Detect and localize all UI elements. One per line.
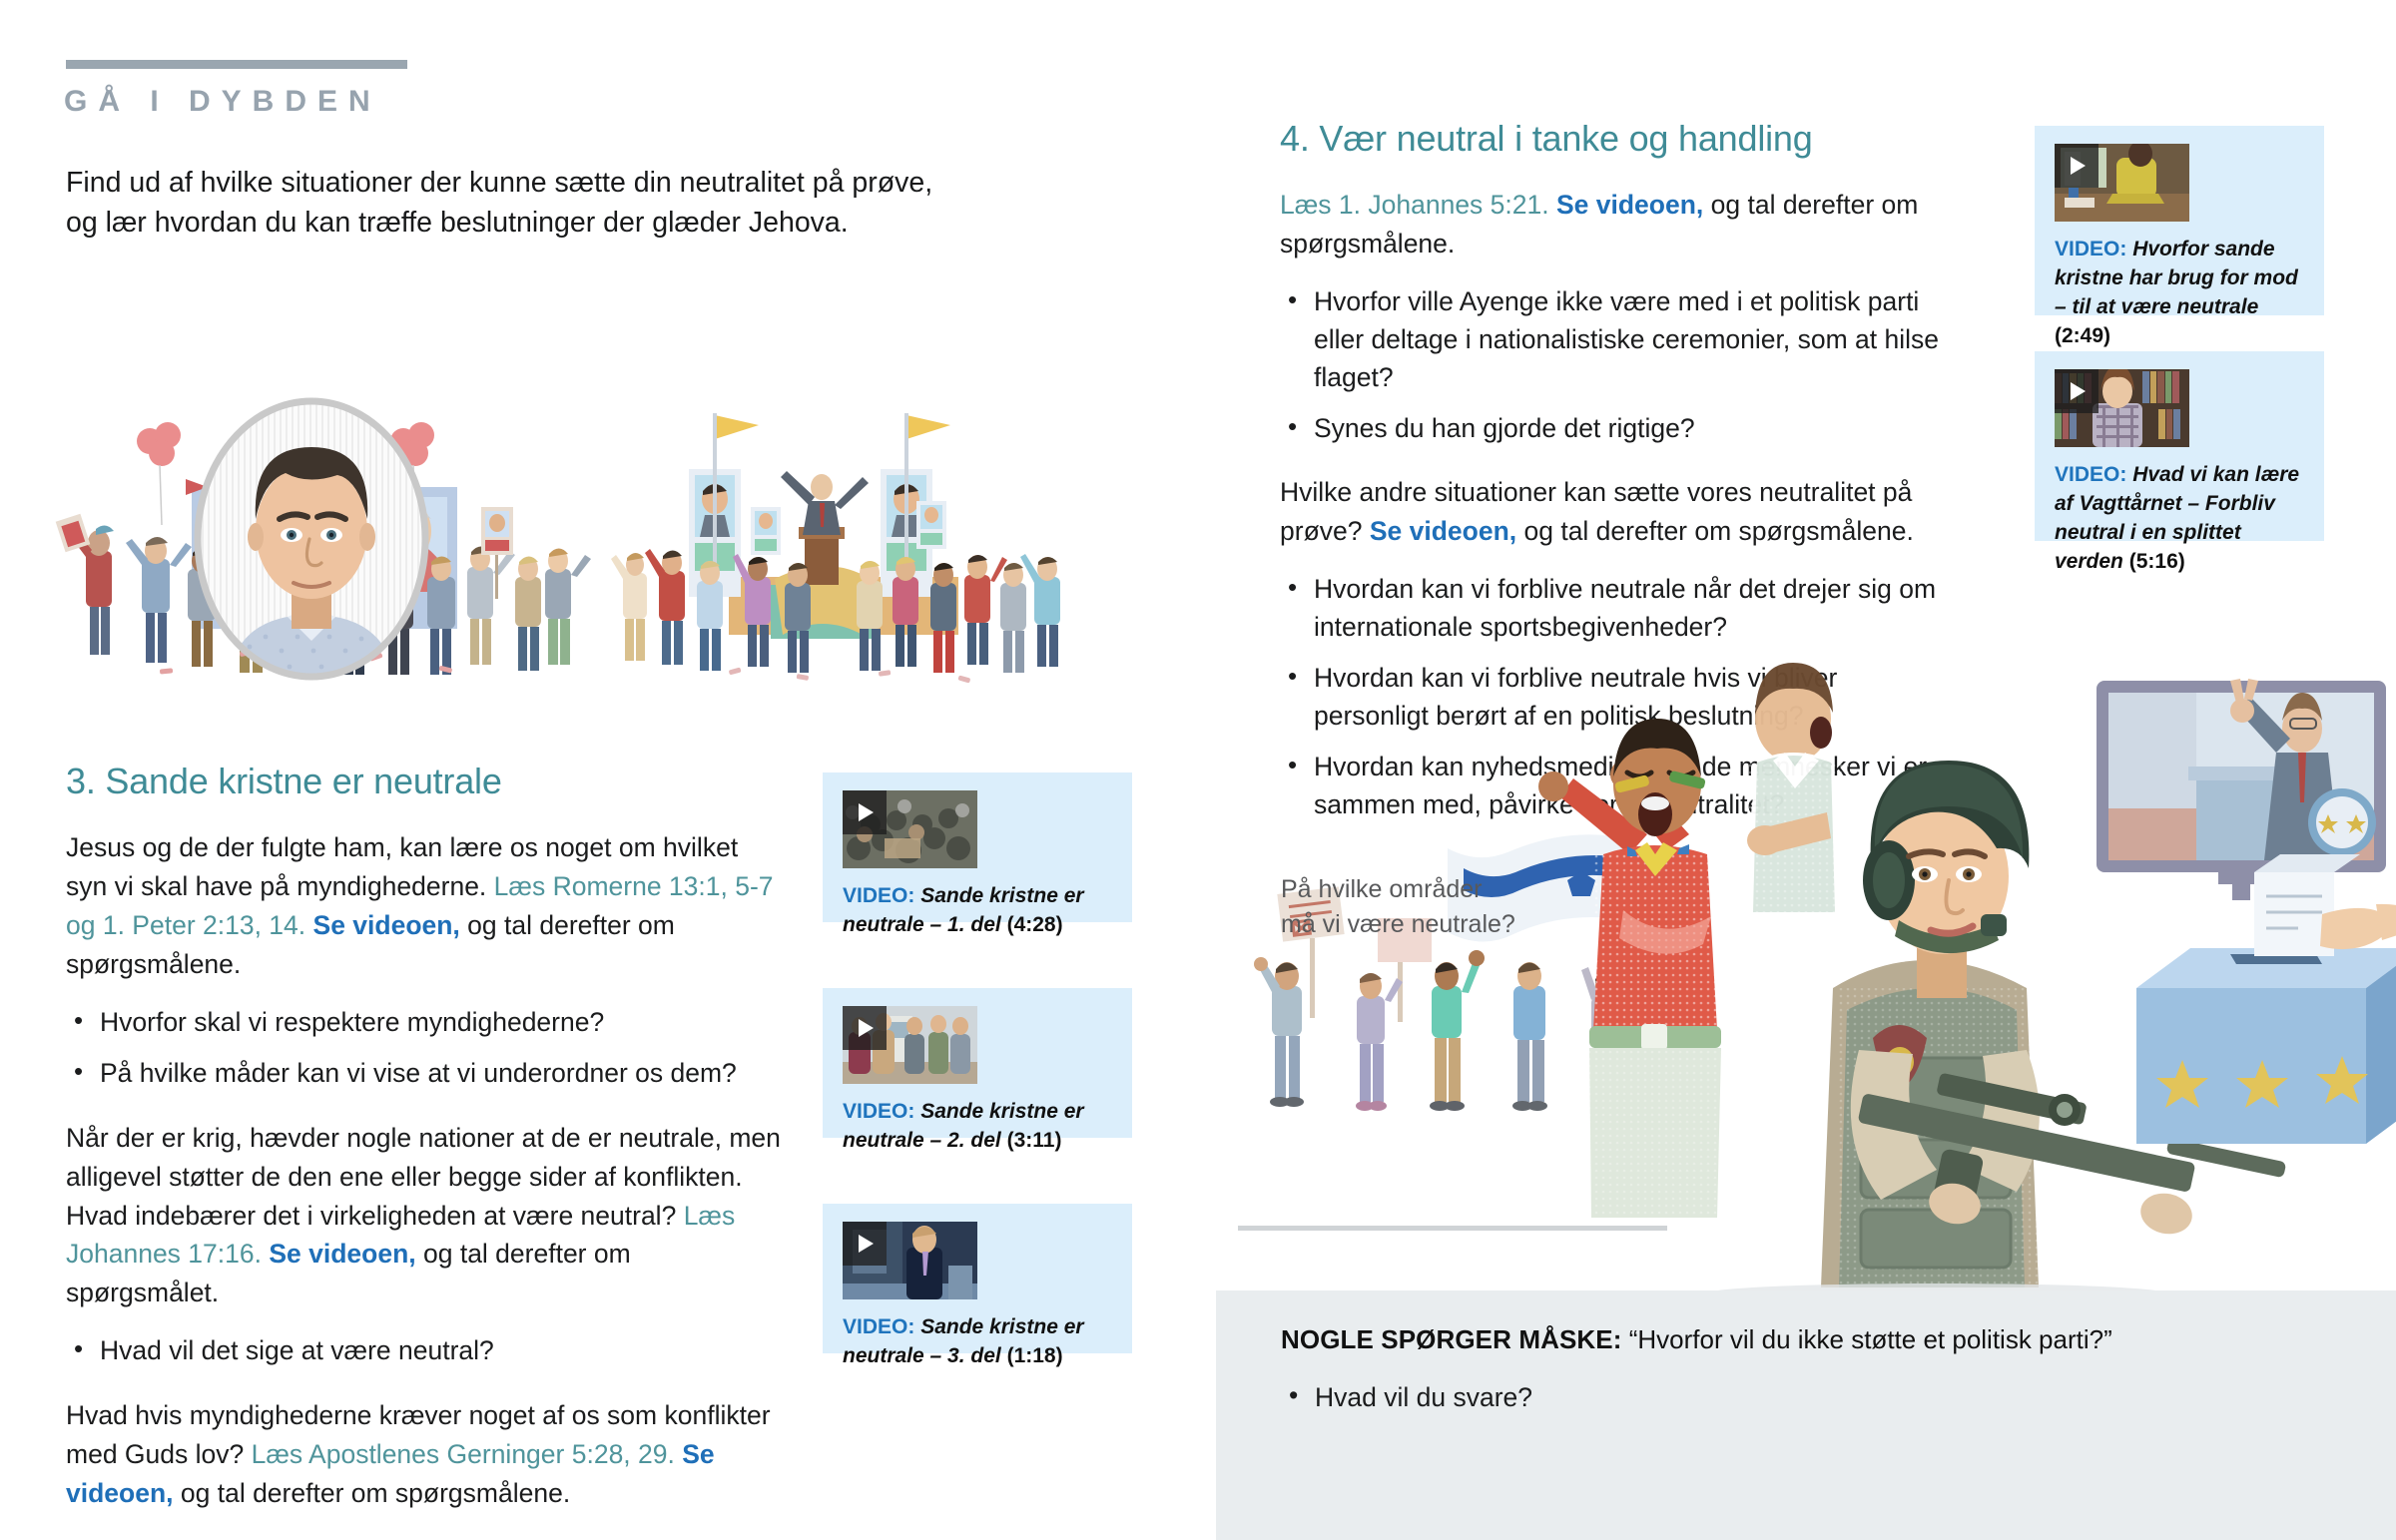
- list-item: Hvorfor skal vi respektere myndighederne…: [66, 1004, 785, 1042]
- tv-broadcast-group: [2096, 679, 2386, 900]
- list-item: På hvilke måder kan vi vise at vi undero…: [66, 1055, 785, 1093]
- neutrality-illustration: [1238, 659, 2396, 1297]
- intro-line-2: og lær hvordan du kan træffe beslutninge…: [66, 203, 1074, 243]
- play-icon[interactable]: [843, 1222, 887, 1266]
- video-thumbnail-3[interactable]: [843, 1222, 977, 1299]
- video-label: VIDEO:: [843, 884, 914, 907]
- s4-p1-scripture[interactable]: Læs 1. Johannes 5:21.: [1280, 190, 1556, 220]
- section-3-paragraph-1: Jesus og de der fulgte ham, kan lære os …: [66, 828, 785, 984]
- video-caption-2: VIDEO: Sande kristne er neutrale – 2. de…: [843, 1098, 1112, 1156]
- list-item: Hvordan kan vi forblive neutrale når det…: [1280, 571, 1939, 647]
- list-item: Synes du han gjorde det rigtige?: [1280, 410, 1939, 448]
- video-caption-5: VIDEO: Hvad vi kan lære af Vagttårnet – …: [2055, 461, 2304, 577]
- video-caption-3: VIDEO: Sande kristne er neutrale – 3. de…: [843, 1313, 1112, 1371]
- video-thumbnail-2[interactable]: [843, 1006, 977, 1084]
- page-root: GÅ I DYBDEN Find ud af hvilke situatione…: [0, 0, 2396, 1540]
- video-label: VIDEO:: [843, 1100, 914, 1123]
- intro-line-1: Find ud af hvilke situationer der kunne …: [66, 163, 1074, 203]
- s3-p2-video-link[interactable]: Se videoen,: [269, 1239, 415, 1269]
- video-card-5[interactable]: VIDEO: Hvad vi kan lære af Vagttårnet – …: [2035, 351, 2324, 541]
- play-icon[interactable]: [2055, 369, 2098, 413]
- illustration-caption-line-1: På hvilke områder: [1281, 872, 1580, 907]
- section-3-paragraph-3: Hvad hvis myndighederne kræver noget af …: [66, 1396, 785, 1513]
- section-3-heading: 3. Sande kristne er neutrale: [66, 761, 785, 802]
- section-3: 3. Sande kristne er neutrale Jesus og de…: [66, 761, 785, 1540]
- list-item: Hvorfor ville Ayenge ikke være med i et …: [1280, 283, 1939, 397]
- video-label: VIDEO:: [2055, 238, 2126, 260]
- section-3-questions-1: Hvorfor skal vi respektere myndighederne…: [66, 1004, 785, 1093]
- rally-right-group: [611, 413, 1060, 684]
- anthem-man-group: [1739, 663, 1849, 920]
- s4-p1-video-link[interactable]: Se videoen,: [1556, 190, 1703, 220]
- list-item: Hvad vil det sige at være neutral?: [66, 1332, 785, 1370]
- video-label: VIDEO:: [843, 1315, 914, 1338]
- video-duration: (5:16): [2129, 550, 2185, 573]
- section-4-questions-1: Hvorfor ville Ayenge ikke være med i et …: [1280, 283, 1939, 448]
- kicker-label: GÅ I DYBDEN: [64, 85, 381, 119]
- some-may-ask-heading: NOGLE SPØRGER MÅSKE: “Hvorfor vil du ikk…: [1281, 1324, 2112, 1355]
- play-icon[interactable]: [2055, 144, 2098, 188]
- video-duration: (3:11): [1007, 1129, 1062, 1152]
- some-may-ask-label: NOGLE SPØRGER MÅSKE:: [1281, 1324, 1621, 1354]
- some-may-ask-question: Hvad vil du svare?: [1281, 1382, 1532, 1413]
- video-thumbnail-4[interactable]: [2055, 144, 2189, 222]
- play-icon[interactable]: [843, 1006, 887, 1050]
- some-may-ask-quote: “Hvorfor vil du ikke støtte et politisk …: [1629, 1324, 2112, 1354]
- section-3-questions-3: Hvis menneskers love er i modstrid med G…: [66, 1533, 785, 1540]
- video-caption-1: VIDEO: Sande kristne er neutrale – 1. de…: [843, 882, 1112, 940]
- section-3-questions-2: Hvad vil det sige at være neutral?: [66, 1332, 785, 1370]
- video-card-3[interactable]: VIDEO: Sande kristne er neutrale – 3. de…: [823, 1204, 1132, 1353]
- illustration-caption-line-2: må vi være neutrale?: [1281, 907, 1580, 942]
- section-4-paragraph-1: Læs 1. Johannes 5:21. Se videoen, og tal…: [1280, 186, 1939, 263]
- video-card-2[interactable]: VIDEO: Sande kristne er neutrale – 2. de…: [823, 988, 1132, 1138]
- s3-p2-text-1: Når der er krig, hævder nogle nationer a…: [66, 1123, 781, 1231]
- intro-paragraph: Find ud af hvilke situationer der kunne …: [66, 163, 1074, 244]
- video-duration: (1:18): [1007, 1344, 1063, 1367]
- play-icon[interactable]: [843, 790, 887, 834]
- video-card-4[interactable]: VIDEO: Hvorfor sande kristne har brug fo…: [2035, 126, 2324, 315]
- video-thumbnail-1[interactable]: [843, 790, 977, 868]
- video-label: VIDEO:: [2055, 463, 2126, 486]
- video-caption-4: VIDEO: Hvorfor sande kristne har brug fo…: [2055, 236, 2304, 351]
- s3-p3-scripture[interactable]: Læs Apostlenes Gerninger 5:28, 29.: [252, 1439, 683, 1469]
- section-4-paragraph-2: Hvilke andre situationer kan sætte vores…: [1280, 473, 1939, 551]
- ballot-box-group: [2136, 854, 2396, 1144]
- video-duration: (2:49): [2055, 324, 2110, 347]
- hero-illustration: [40, 379, 1158, 699]
- kicker-rule: [66, 60, 407, 69]
- s3-p1-video-link[interactable]: Se videoen,: [313, 910, 460, 940]
- s3-p3-text-2: og tal derefter om spørgsmålene.: [174, 1478, 571, 1508]
- video-duration: (4:28): [1007, 913, 1063, 936]
- video-card-1[interactable]: VIDEO: Sande kristne er neutrale – 1. de…: [823, 772, 1132, 922]
- portrait-oval: [198, 401, 425, 677]
- section-3-paragraph-2: Når der er krig, hævder nogle nationer a…: [66, 1119, 785, 1313]
- video-thumbnail-5[interactable]: [2055, 369, 2189, 447]
- list-item: Hvis menneskers love er i modstrid med G…: [66, 1533, 785, 1540]
- illustration-caption: På hvilke områder må vi være neutrale?: [1281, 872, 1580, 941]
- section-4-heading: 4. Vær neutral i tanke og handling: [1280, 118, 1939, 160]
- s4-p2-text-2: og tal derefter om spørgsmålene.: [1516, 516, 1914, 546]
- s4-p2-video-link[interactable]: Se videoen,: [1370, 516, 1516, 546]
